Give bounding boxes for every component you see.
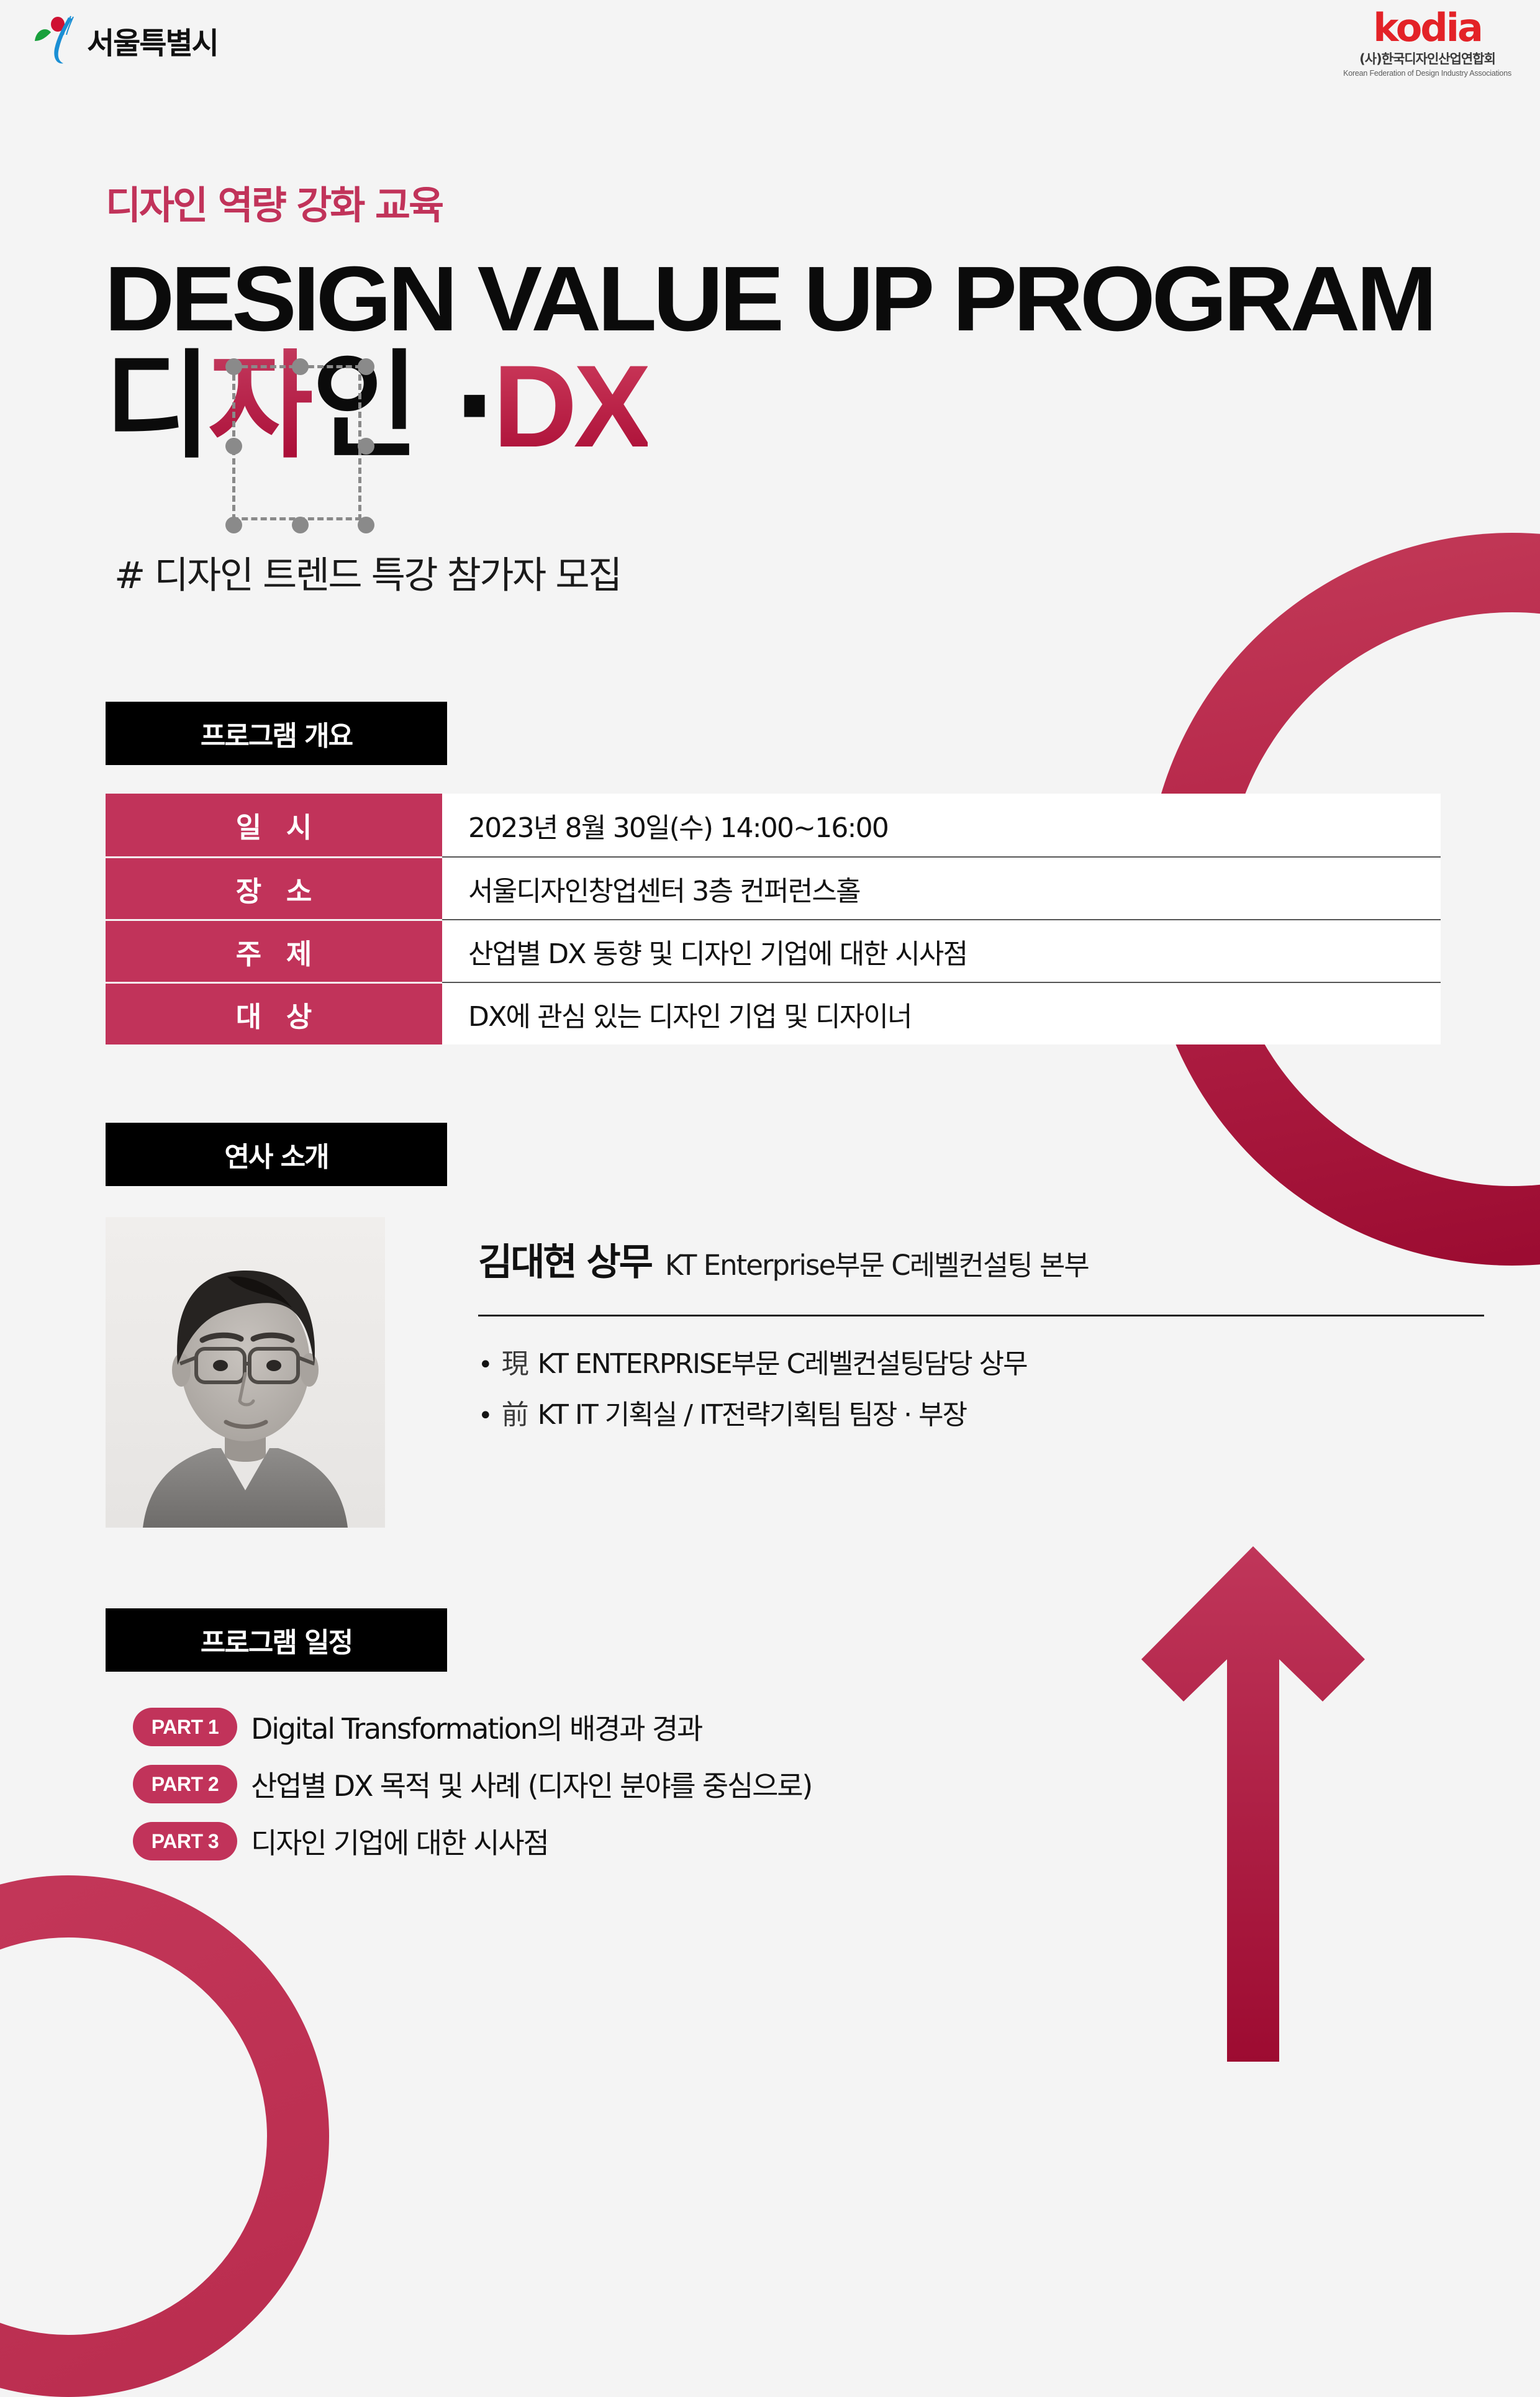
speaker-organization: KT Enterprise부문 C레벨컨설팅 본부 [665, 1243, 1089, 1283]
speaker-career-item: • 前 KT IT 기획실 / IT전략기획팀 팀장 · 부장 [478, 1392, 1472, 1432]
speaker-portrait-illustration [106, 1217, 385, 1528]
arrow-up-icon [1141, 1546, 1365, 2062]
table-row-value: 2023년 8월 30일(수) 14:00~16:00 [442, 794, 1441, 856]
subtitle-text: # 디자인 트렌드 특강 참가자 모집 [114, 545, 621, 599]
title-english: DESIGN VALUE UP PROGRAM [104, 253, 1433, 345]
speaker-info: 김대현 상무 KT Enterprise부문 C레벨컨설팅 본부 • 現 KT … [478, 1217, 1472, 1528]
selection-handle-bottom-center [292, 517, 309, 533]
table-row-label: 대 상 [106, 982, 442, 1044]
table-row: 장 소 서울디자인창업센터 3층 컨퍼런스홀 [106, 856, 1441, 919]
speaker-header: 김대현 상무 KT Enterprise부문 C레벨컨설팅 본부 [478, 1232, 1472, 1286]
title-korean: 디자인 ·DX [104, 348, 648, 465]
overview-table: 일 시 2023년 8월 30일(수) 14:00~16:00 장 소 서울디자… [106, 794, 1441, 1044]
kodia-wordmark: kodia [1343, 9, 1511, 47]
selection-handle-top-center [292, 358, 309, 375]
part-text: 산업별 DX 목적 및 사례 (디자인 분야를 중심으로) [251, 1764, 812, 1805]
speaker-block: 김대현 상무 KT Enterprise부문 C레벨컨설팅 본부 • 現 KT … [106, 1217, 1472, 1528]
selection-handle-bottom-right [358, 517, 374, 533]
part-badge: PART 2 [133, 1765, 237, 1803]
career-text: KT ENTERPRISE부문 C레벨컨설팅담당 상무 [538, 1341, 1027, 1381]
part-text: 디자인 기업에 대한 시사점 [251, 1821, 548, 1862]
ring-arc-bottom-left [0, 1875, 329, 2397]
kodia-korean-name: (사)한국디자인산업연합회 [1343, 49, 1511, 68]
selection-handle-top-right [358, 358, 374, 375]
title-separator: · [452, 338, 492, 474]
selection-handle-middle-left [225, 438, 242, 455]
section-heading-speaker: 연사 소개 [106, 1123, 447, 1186]
speaker-career-item: • 現 KT ENTERPRISE부문 C레벨컨설팅담당 상무 [478, 1341, 1472, 1381]
speaker-divider [478, 1315, 1484, 1316]
part-badge: PART 1 [133, 1708, 237, 1746]
table-row: 일 시 2023년 8월 30일(수) 14:00~16:00 [106, 794, 1441, 856]
selection-handle-bottom-left [225, 517, 242, 533]
list-item: PART 3 디자인 기업에 대한 시사점 [133, 1821, 812, 1862]
table-row-value: DX에 관심 있는 디자인 기업 및 디자이너 [442, 982, 1441, 1044]
list-item: PART 2 산업별 DX 목적 및 사례 (디자인 분야를 중심으로) [133, 1764, 812, 1805]
speaker-name: 김대현 상무 [478, 1232, 651, 1286]
career-text: KT IT 기획실 / IT전략기획팀 팀장 · 부장 [538, 1392, 967, 1432]
schedule-list: PART 1 Digital Transformation의 배경과 경과 PA… [133, 1706, 812, 1878]
title-dx: DX [493, 341, 648, 471]
table-row-label: 장 소 [106, 856, 442, 919]
table-row-label: 주 제 [106, 919, 442, 982]
title-korean-before: 디 [104, 338, 208, 474]
table-row: 주 제 산업별 DX 동향 및 디자인 기업에 대한 시사점 [106, 919, 1441, 982]
eyebrow-label: 디자인 역량 강화 교육 [106, 174, 442, 230]
career-era: 前 [502, 1392, 528, 1432]
career-era: 現 [502, 1341, 528, 1381]
bullet-icon: • [478, 1353, 492, 1377]
selection-handle-top-left [225, 358, 242, 375]
list-item: PART 1 Digital Transformation의 배경과 경과 [133, 1706, 812, 1747]
seoul-city-logo: 서울특별시 [30, 14, 218, 67]
part-badge: PART 3 [133, 1822, 237, 1860]
seoul-city-label: 서울특별시 [87, 19, 218, 62]
speaker-photo [106, 1217, 385, 1528]
bullet-icon: • [478, 1403, 492, 1428]
table-row-value: 산업별 DX 동향 및 디자인 기업에 대한 시사점 [442, 919, 1441, 982]
ring-arc-bottom-left-hole [0, 1937, 267, 2335]
table-row-label: 일 시 [106, 794, 442, 856]
section-heading-schedule: 프로그램 일정 [106, 1608, 447, 1672]
section-heading-overview: 프로그램 개요 [106, 702, 447, 765]
selection-bounding-box[interactable] [232, 365, 361, 520]
seoul-brush-mark-icon [30, 14, 78, 67]
poster-header: 서울특별시 kodia (사)한국디자인산업연합회 Korean Federat… [0, 0, 1540, 99]
kodia-english-name: Korean Federation of Design Industry Ass… [1343, 69, 1511, 78]
table-row: 대 상 DX에 관심 있는 디자인 기업 및 디자이너 [106, 982, 1441, 1044]
selection-handle-middle-right [358, 438, 374, 455]
table-row-value: 서울디자인창업센터 3층 컨퍼런스홀 [442, 856, 1441, 919]
kodia-logo: kodia (사)한국디자인산업연합회 Korean Federation of… [1343, 9, 1511, 78]
part-text: Digital Transformation의 배경과 경과 [251, 1706, 702, 1747]
